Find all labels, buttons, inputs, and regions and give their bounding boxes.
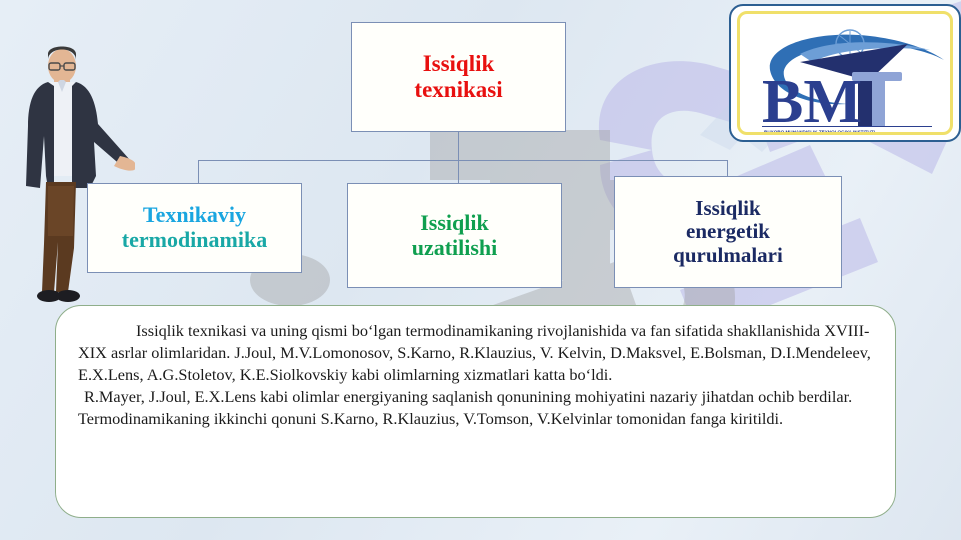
body-paragraph-1: Issiqlik texnikasi va uning qismi bo‘lga… xyxy=(78,320,873,385)
org-node-b-line1: Issiqlik xyxy=(420,210,489,235)
connector-horizontal-bar xyxy=(198,160,727,161)
slide-canvas: BM BUXORO MUHANDISLIK TEXNOLOGIYA INSTIT… xyxy=(0,0,961,540)
org-node-root-text: Issiqlik texnikasi xyxy=(408,49,508,105)
org-node-b-text: Issiqlik uzatilishi xyxy=(406,209,504,262)
body-paragraph-2: R.Mayer, J.Joul, E.X.Lens kabi olimlar e… xyxy=(78,386,873,430)
logo-graphic: BM BUXORO MUHANDISLIK TEXNOLOGIYA INSTIT… xyxy=(740,14,953,135)
presenter-photo xyxy=(10,36,135,316)
svg-text:BM: BM xyxy=(762,68,862,135)
org-node-b-line2: uzatilishi xyxy=(412,235,498,260)
org-node-root-line2: texnikasi xyxy=(414,77,502,102)
institute-logo: BM BUXORO MUHANDISLIK TEXNOLOGIYA INSTIT… xyxy=(729,4,961,142)
org-node-c-line2: energetik xyxy=(686,219,770,243)
org-node-c-text: Issiqlik energetik qurulmalari xyxy=(667,195,789,270)
connector-drop-left xyxy=(198,160,199,183)
org-node-c-line1: Issiqlik xyxy=(695,196,760,220)
org-node-root-line1: Issiqlik xyxy=(423,51,495,76)
connector-root-drop xyxy=(458,132,459,160)
org-node-a-text: Texnikaviy termodinamika xyxy=(116,201,273,254)
org-node-c-line3: qurulmalari xyxy=(673,243,783,267)
connector-drop-right xyxy=(727,160,728,176)
body-text-card: Issiqlik texnikasi va uning qismi bo‘lga… xyxy=(55,305,896,518)
org-node-a-line2: termodinamika xyxy=(122,227,267,252)
org-node-issiqlik-uzatilishi[interactable]: Issiqlik uzatilishi xyxy=(347,183,562,288)
org-node-issiqlik-energetik-qurulmalari[interactable]: Issiqlik energetik qurulmalari xyxy=(614,176,842,288)
connector-drop-middle xyxy=(458,160,459,183)
logo-inner-frame: BM BUXORO MUHANDISLIK TEXNOLOGIYA INSTIT… xyxy=(737,11,953,135)
org-node-issiqlik-texnikasi[interactable]: Issiqlik texnikasi xyxy=(351,22,566,132)
logo-subtitle: BUXORO MUHANDISLIK TEXNOLOGIYA INSTITUTI xyxy=(764,130,875,135)
org-node-texnikaviy-termodinamika[interactable]: Texnikaviy termodinamika xyxy=(87,183,302,273)
org-node-a-line1: Texnikaviy xyxy=(143,202,246,227)
